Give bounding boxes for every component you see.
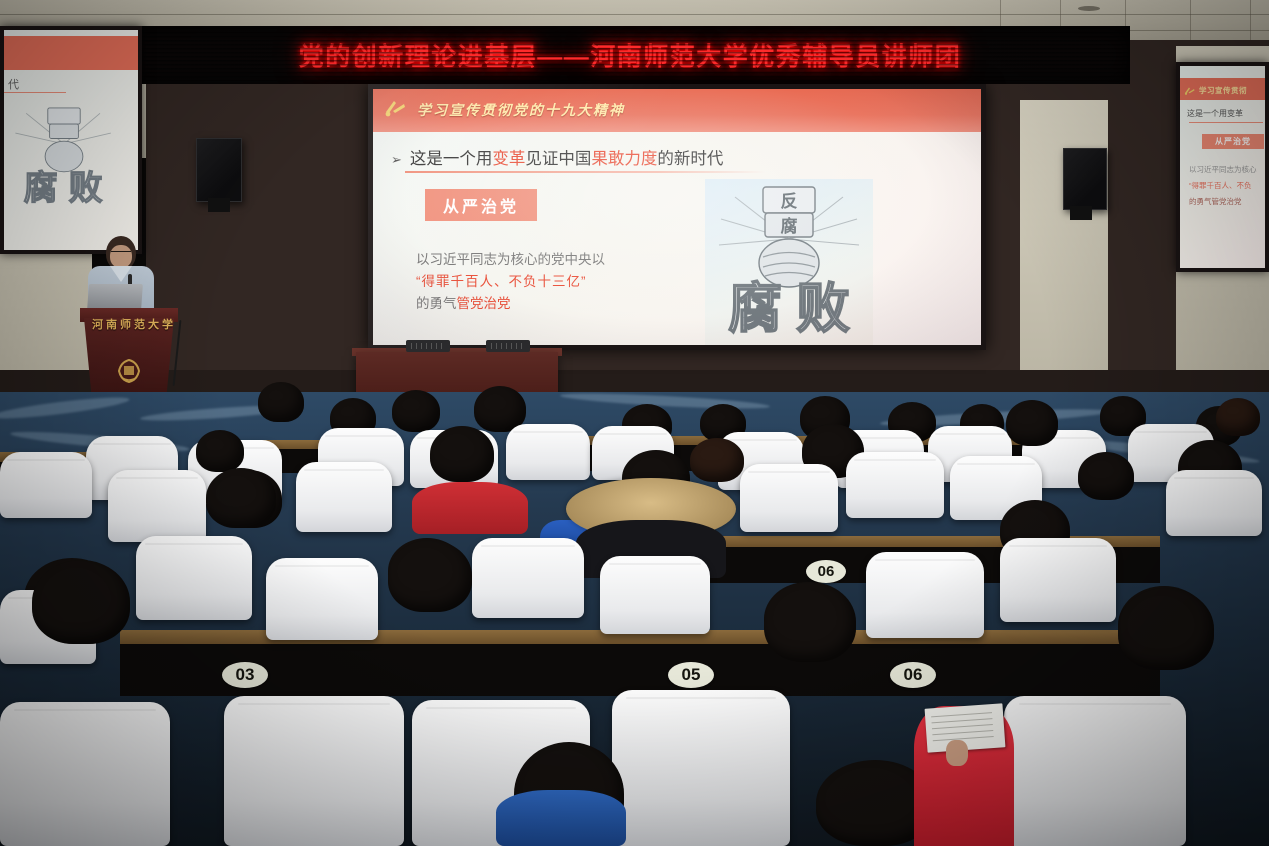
seat-cover [600, 556, 710, 634]
bullet-part-4: 果敢力度 [591, 150, 657, 168]
ceiling-vent [1078, 6, 1100, 11]
left-side-rule [4, 92, 66, 93]
audience-head [1006, 400, 1058, 446]
seat-cover [1004, 696, 1186, 846]
seat-cover [0, 702, 170, 846]
left-side-figure: 腐 败 [10, 102, 118, 220]
hand [946, 740, 968, 766]
left-side-screen: 代 腐 败 [0, 26, 142, 254]
right-side-party-emblem-icon [1184, 83, 1196, 93]
audience-head [430, 426, 494, 482]
seat-cover [266, 558, 378, 640]
seat-cover [0, 452, 92, 518]
wall-speaker-right [1063, 148, 1107, 210]
seat-number-badge: 06 [806, 560, 846, 583]
slide-body-line-3: 的勇气管党治党 [416, 293, 605, 315]
right-side-body-3: 的勇气管党治党 [1189, 196, 1242, 207]
right-side-screen: 学习宣传贯彻 这是一个用变革 从严治党 以习近平同志为核心 “得罪千百人、不负 … [1176, 62, 1269, 272]
bullet-part-5: 的新时代 [657, 150, 723, 168]
right-side-header: 学习宣传贯彻 [1199, 85, 1247, 96]
right-side-slide: 学习宣传贯彻 这是一个用变革 从严治党 以习近平同志为核心 “得罪千百人、不负 … [1180, 66, 1265, 268]
right-side-tag: 从严治党 [1202, 134, 1264, 149]
audience-head [764, 582, 856, 662]
svg-text:腐: 腐 [781, 216, 798, 236]
led-banner: 党的创新理论进基层——河南师范大学优秀辅导员讲师团 [130, 26, 1130, 84]
svg-text:腐: 腐 [728, 279, 782, 339]
bullet-part-3: 见证中国 [525, 150, 591, 168]
seat-number-badge: 05 [668, 662, 714, 688]
seat-cover [612, 690, 790, 846]
speaker-bracket-left [208, 198, 230, 212]
red-hoodie [412, 482, 528, 534]
presentation-slide: 学习宣传贯彻党的十九大精神 ➢这是一个用变革见证中国果敢力度的新时代 从严治党 … [373, 89, 981, 345]
right-side-body-1: 以习近平同志为核心 [1189, 164, 1257, 175]
slide-tag-strict-governance: 从严治党 [425, 189, 537, 221]
audience-head [206, 468, 276, 528]
blue-jacket [496, 790, 626, 846]
audience-head [32, 560, 130, 644]
lecture-hall-photo: 党的创新理论进基层——河南师范大学优秀辅导员讲师团 学习宣传贯彻党的十九大精神 … [0, 0, 1269, 846]
seat-cover [472, 538, 584, 618]
seat-cover [1166, 470, 1262, 536]
seat-cover [1000, 538, 1116, 622]
led-banner-text: 党的创新理论进基层——河南师范大学优秀辅导员讲师团 [130, 37, 1130, 73]
audience-head [1078, 452, 1134, 500]
desk-face-near [120, 644, 1160, 696]
bullet-underline [405, 171, 765, 173]
podium-inscription: 河南师范大学 [92, 316, 176, 332]
party-emblem-icon [383, 98, 409, 120]
audience-head [1216, 398, 1260, 436]
svg-text:败: 败 [68, 170, 102, 208]
seat-cover [296, 462, 392, 532]
audience-head [690, 438, 744, 482]
seat-cover [866, 552, 984, 638]
bullet-arrow-icon: ➢ [391, 152, 402, 167]
projection-screen: 学习宣传贯彻党的十九大精神 ➢这是一个用变革见证中国果敢力度的新时代 从严治党 … [368, 84, 986, 350]
slide-header-title: 学习宣传贯彻党的十九大精神 [417, 100, 625, 120]
slide-body-line-2: “得罪千百人、不负十三亿” [416, 271, 605, 293]
right-side-rule [1189, 122, 1263, 123]
seat-cover [108, 470, 206, 542]
audience-head [392, 390, 440, 432]
table-equipment-left [406, 340, 450, 352]
right-side-body-2: “得罪千百人、不负 [1189, 180, 1252, 191]
left-side-band [4, 36, 138, 70]
bullet-part-2: 变革 [492, 150, 525, 168]
audience-head [388, 540, 472, 612]
svg-text:反: 反 [781, 192, 798, 211]
slide-body-line-1: 以习近平同志为核心的党中央以 [416, 249, 605, 271]
right-side-bullet: 这是一个用变革 [1187, 108, 1243, 119]
audience-head [1118, 588, 1214, 670]
seat-cover [846, 452, 944, 518]
presenter-face [110, 245, 132, 268]
university-crest-icon [114, 356, 144, 386]
wall-panel-light-right [1020, 100, 1110, 392]
seat-cover [136, 536, 252, 620]
seat-cover [224, 696, 404, 846]
wall-panel-dark-far-right [1108, 46, 1178, 392]
anti-corruption-fist-illustration: 反 腐 腐 败 [705, 179, 873, 345]
slide-body-text: 以习近平同志为核心的党中央以 “得罪千百人、不负十三亿” 的勇气管党治党 [416, 249, 605, 315]
speaker-bracket-right [1070, 206, 1092, 220]
glasses-icon [111, 251, 131, 256]
table-equipment-right [486, 340, 530, 352]
seat-cover [740, 464, 838, 532]
presenter-laptop [87, 284, 143, 310]
wall-speaker-left [196, 138, 242, 202]
slide-body-line-3-highlight: 管党治党 [457, 296, 511, 311]
audience-head [196, 430, 244, 472]
seat-number-badge: 03 [222, 662, 268, 688]
seat-cover [506, 424, 590, 480]
seat-number-badge: 06 [890, 662, 936, 688]
left-side-fragment: 代 [8, 76, 19, 92]
svg-text:败: 败 [796, 279, 850, 339]
left-side-slide: 代 腐 败 [4, 30, 138, 250]
audience-head [258, 382, 304, 422]
bullet-part-1: 这是一个用 [410, 150, 493, 168]
svg-text:腐: 腐 [23, 170, 57, 208]
slide-bullet: ➢这是一个用变革见证中国果敢力度的新时代 [391, 145, 811, 169]
slide-body-line-3-prefix: 的勇气 [416, 296, 457, 311]
